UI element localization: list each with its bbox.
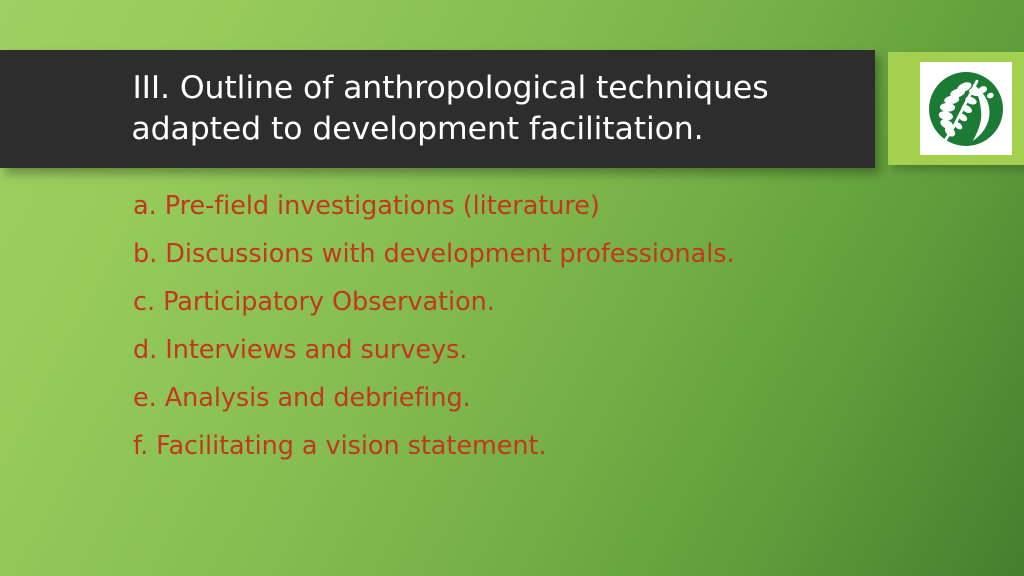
list-item: a. Pre-field investigations (literature) — [133, 182, 893, 230]
slide-title-line-2: adapted to development facilitation. — [131, 109, 703, 150]
slide-title-line-1: III. Outline of anthropological techniqu… — [106, 68, 768, 109]
list-item: c. Participatory Observation. — [133, 278, 893, 326]
list-item: e. Analysis and debriefing. — [133, 374, 893, 422]
presentation-slide: III. Outline of anthropological techniqu… — [0, 0, 1024, 576]
technique-list: a. Pre-field investigations (literature)… — [133, 182, 893, 470]
slide-title-bar: III. Outline of anthropological techniqu… — [0, 50, 875, 168]
fern-leaf-circle-logo-icon — [924, 67, 1008, 151]
logo-panel — [888, 52, 1024, 165]
list-item: f. Facilitating a vision statement. — [133, 422, 893, 470]
list-item: b. Discussions with development professi… — [133, 230, 893, 278]
list-item: d. Interviews and surveys. — [133, 326, 893, 374]
logo-white-box — [920, 62, 1012, 155]
